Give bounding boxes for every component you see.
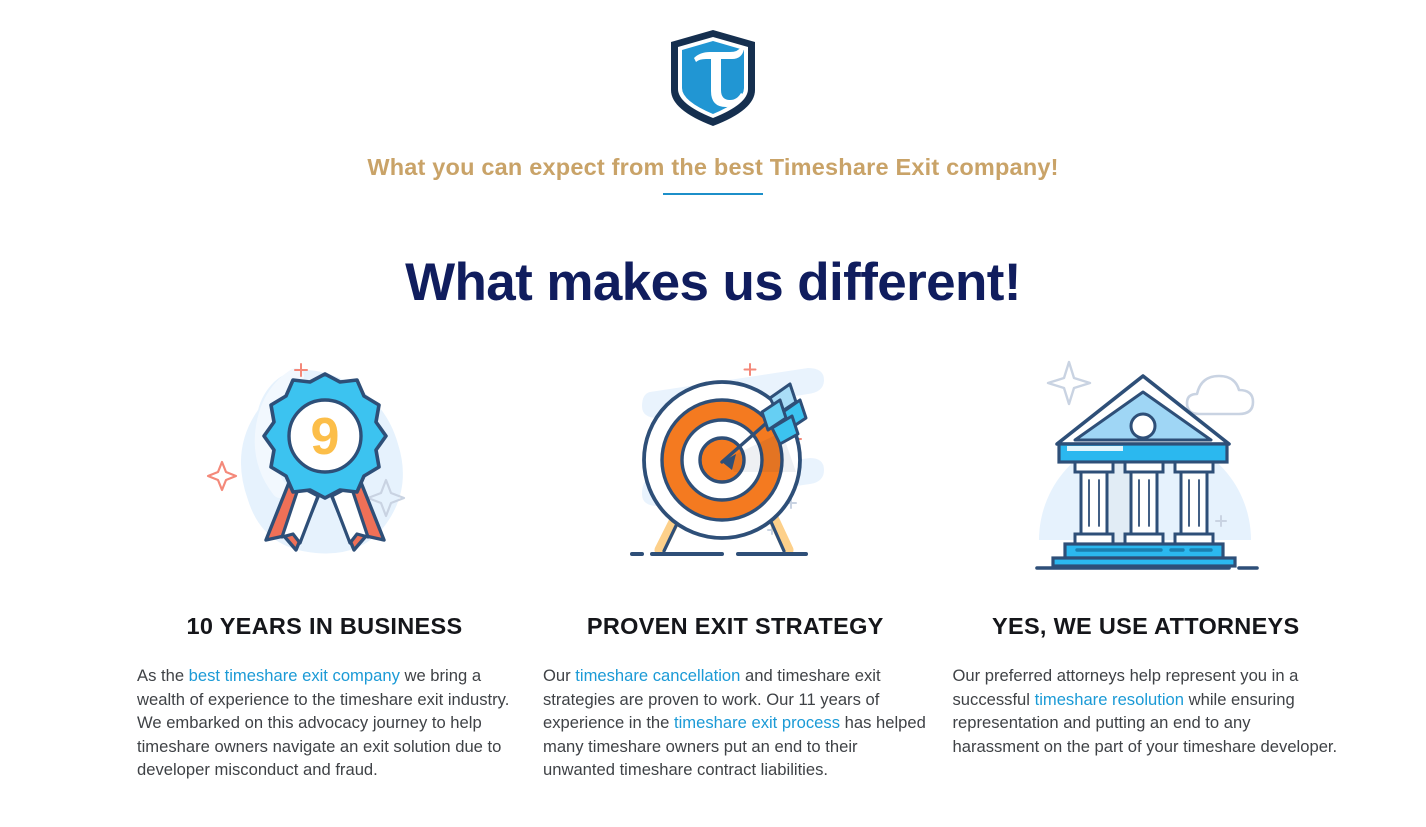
heading-divider [663, 193, 763, 195]
body-text: Our [543, 666, 575, 685]
link-timeshare-cancellation[interactable]: timeshare cancellation [575, 666, 740, 685]
feature-columns: 9 10 YEARS IN BUSINESS As the best times… [128, 340, 1342, 799]
feature-body: Our timeshare cancellation and timeshare… [543, 664, 931, 782]
feature-title: 10 YEARS IN BUSINESS [187, 613, 463, 640]
shield-t-logo-icon [666, 28, 760, 128]
feature-column-years-in-business: 9 10 YEARS IN BUSINESS As the best times… [128, 340, 521, 799]
heading-divider-wrap [0, 193, 1426, 195]
link-timeshare-exit-process[interactable]: timeshare exit process [674, 713, 840, 732]
courthouse-icon [1021, 340, 1271, 575]
link-timeshare-resolution[interactable]: timeshare resolution [1035, 690, 1184, 709]
link-best-timeshare-exit-company[interactable]: best timeshare exit company [189, 666, 400, 685]
feature-column-proven-exit-strategy: PROVEN EXIT STRATEGY Our timeshare cance… [539, 340, 932, 799]
feature-title: YES, WE USE ATTORNEYS [992, 613, 1300, 640]
award-badge-icon: 9 [200, 340, 450, 575]
target-arrow-icon [610, 340, 860, 575]
body-text: As the [137, 666, 189, 685]
feature-column-we-use-attorneys: YES, WE USE ATTORNEYS Our preferred atto… [950, 340, 1343, 799]
feature-body: As the best timeshare exit company we br… [137, 664, 525, 782]
page-title: What makes us different! [0, 248, 1426, 318]
feature-title: PROVEN EXIT STRATEGY [587, 613, 884, 640]
feature-body: Our preferred attorneys help represent y… [953, 664, 1341, 758]
badge-number: 9 [310, 408, 339, 466]
site-logo[interactable] [0, 28, 1426, 128]
section-eyebrow: What you can expect from the best Timesh… [0, 150, 1426, 184]
